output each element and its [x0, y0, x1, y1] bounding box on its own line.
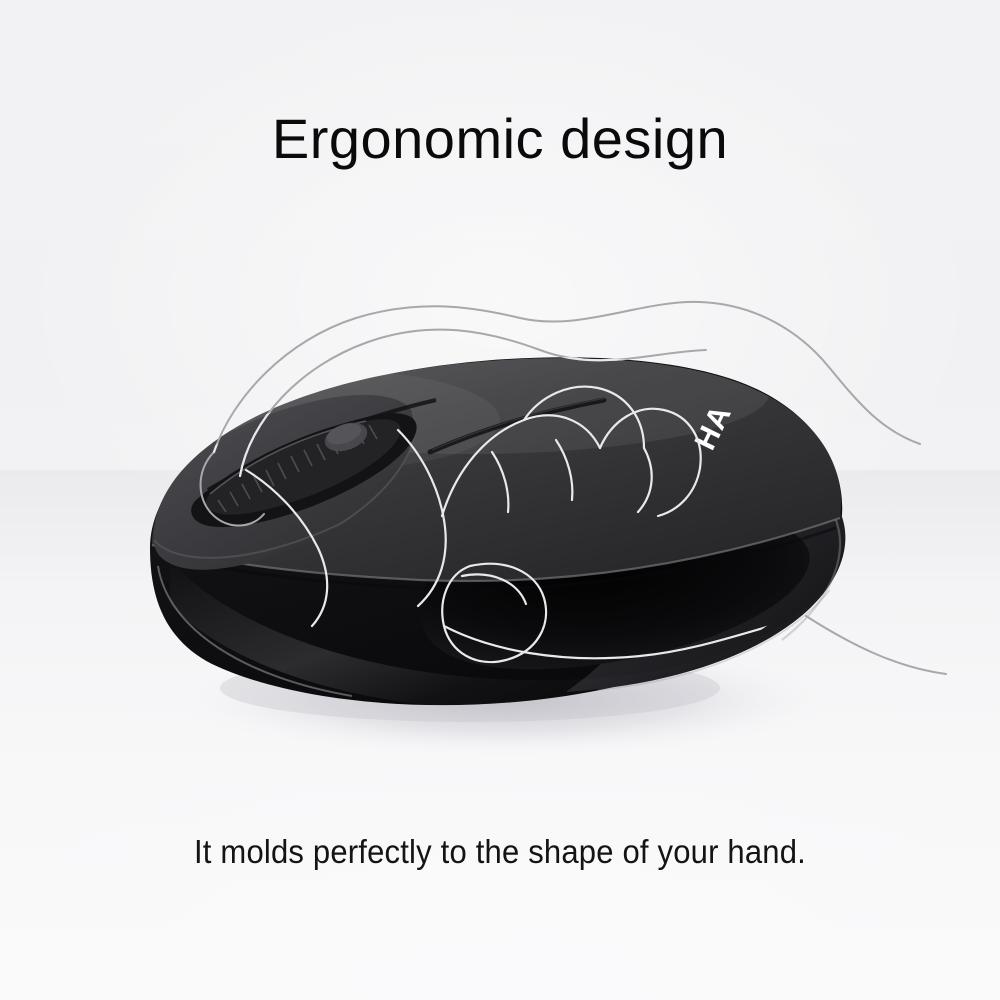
dpi-button — [321, 418, 371, 457]
background-surface-band — [0, 470, 1000, 730]
base-rim-highlight — [158, 566, 352, 696]
mouse-side-panel — [420, 512, 809, 670]
mouse-top-shell — [152, 358, 841, 581]
mouse-left-cap — [154, 395, 415, 570]
mouse-button-split-groove — [430, 400, 604, 452]
mouse-left-button-groove — [208, 400, 436, 490]
mouse-base — [150, 357, 842, 705]
hand-outline-overlay — [201, 302, 947, 674]
mouse-seam-line — [152, 518, 840, 581]
mouse-rear-bulge — [566, 420, 845, 692]
mouse-body: HA — [150, 330, 845, 709]
product-shadow — [170, 642, 840, 758]
scroll-wheel — [206, 419, 401, 514]
page-title: Ergonomic design — [0, 108, 1000, 170]
scroll-wheel-recess — [191, 413, 416, 527]
brand-logo-text: HA — [689, 400, 739, 455]
product-marketing-image: Ergonomic design — [0, 0, 1000, 1000]
page-caption: It molds perfectly to the shape of your … — [30, 832, 970, 872]
